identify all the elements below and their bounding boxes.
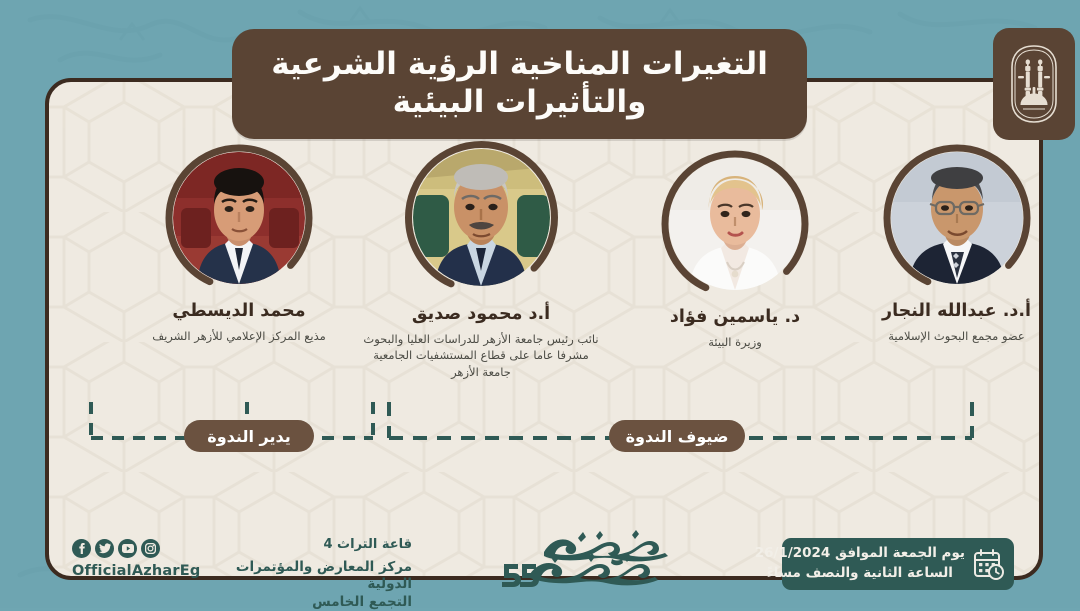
poster-title-line-2: والتأثيرات البيئية [393,84,647,122]
instagram-icon[interactable] [141,539,160,558]
venue-block: قاعة التراث 4 مركز المعارض والمؤتمرات ال… [212,536,412,611]
speaker-name-3: د. ياسمين فؤاد [625,307,845,327]
speakers-row: محمد الديسطي مذيع المركز الإعلامي للأزهر… [49,82,1039,576]
facebook-icon[interactable] [72,539,91,558]
social-icons [72,539,200,558]
guests-label: ضيوف الندوة [609,420,745,452]
al-azhar-emblem-box [993,28,1075,140]
speaker-role-1: مذيع المركز الإعلامي للأزهر الشريف [104,328,374,344]
speaker-card-1: محمد الديسطي مذيع المركز الإعلامي للأزهر… [104,144,374,344]
al-azhar-emblem-icon [1008,43,1060,125]
datetime-box: يوم الجمعة الموافق 26/1/2024 الساعة الثا… [782,538,1014,590]
poster-title-line-1: التغيرات المناخية الرؤية الشرعية [271,46,768,84]
social-block: OfficialAzharEg [72,539,200,579]
speaker-role-3: وزيرة البيئة [625,334,845,350]
speaker-role-line: وزيرة البيئة [625,334,845,350]
speaker-role-line: نائب رئيس جامعة الأزهر للدراسات العليا و… [341,331,621,347]
speaker-role-2: نائب رئيس جامعة الأزهر للدراسات العليا و… [341,331,621,380]
datetime-text: يوم الجمعة الموافق 26/1/2024 الساعة الثا… [755,544,965,583]
poster-title: التغيرات المناخية الرؤية الشرعية والتأثي… [232,29,807,139]
speaker-role-line: مشرفا عاما على قطاع المستشفيات الجامعية [341,347,621,363]
youtube-icon[interactable] [118,539,137,558]
speaker-name-4: أ.د. عبدالله النجار [844,301,1043,321]
social-handle: OfficialAzharEg [72,563,200,579]
speaker-photo-ring-1 [165,144,313,292]
moderator-label-text: يدير الندوة [207,427,290,446]
content-panel: محمد الديسطي مذيع المركز الإعلامي للأزهر… [45,78,1043,580]
speaker-role-line: عضو مجمع البحوث الإسلامية [844,328,1043,344]
speaker-name-2: أ.د محمود صديق [341,304,621,324]
event-date: يوم الجمعة الموافق 26/1/2024 [755,544,965,564]
venue-hall: قاعة التراث 4 [212,536,412,554]
speaker-photo-ring-3 [661,150,809,298]
book-fair-logo [492,526,722,588]
speaker-photo-ring-4 [883,144,1031,292]
speaker-role-4: عضو مجمع البحوث الإسلامية [844,328,1043,344]
venue-center: مركز المعارض والمؤتمرات الدولية [212,559,412,594]
venue-district: التجمع الخامس [212,594,412,611]
speaker-role-line: مذيع المركز الإعلامي للأزهر الشريف [104,328,374,344]
calendar-clock-icon [973,548,1005,581]
event-time: الساعة الثانية والنصف مساءً [755,564,965,584]
speaker-card-2: أ.د محمود صديق نائب رئيس جامعة الأزهر لل… [341,140,621,380]
speaker-name-1: محمد الديسطي [104,301,374,321]
speaker-card-4: أ.د. عبدالله النجار عضو مجمع البحوث الإس… [844,144,1043,344]
moderator-label: يدير الندوة [184,420,314,452]
poster-canvas: محمد الديسطي مذيع المركز الإعلامي للأزهر… [0,0,1080,608]
speaker-card-3: د. ياسمين فؤاد وزيرة البيئة [625,150,845,350]
speaker-role-line: جامعة الأزهر [341,364,621,380]
guests-label-text: ضيوف الندوة [626,427,729,446]
twitter-icon[interactable] [95,539,114,558]
speaker-photo-ring-2 [404,140,559,295]
